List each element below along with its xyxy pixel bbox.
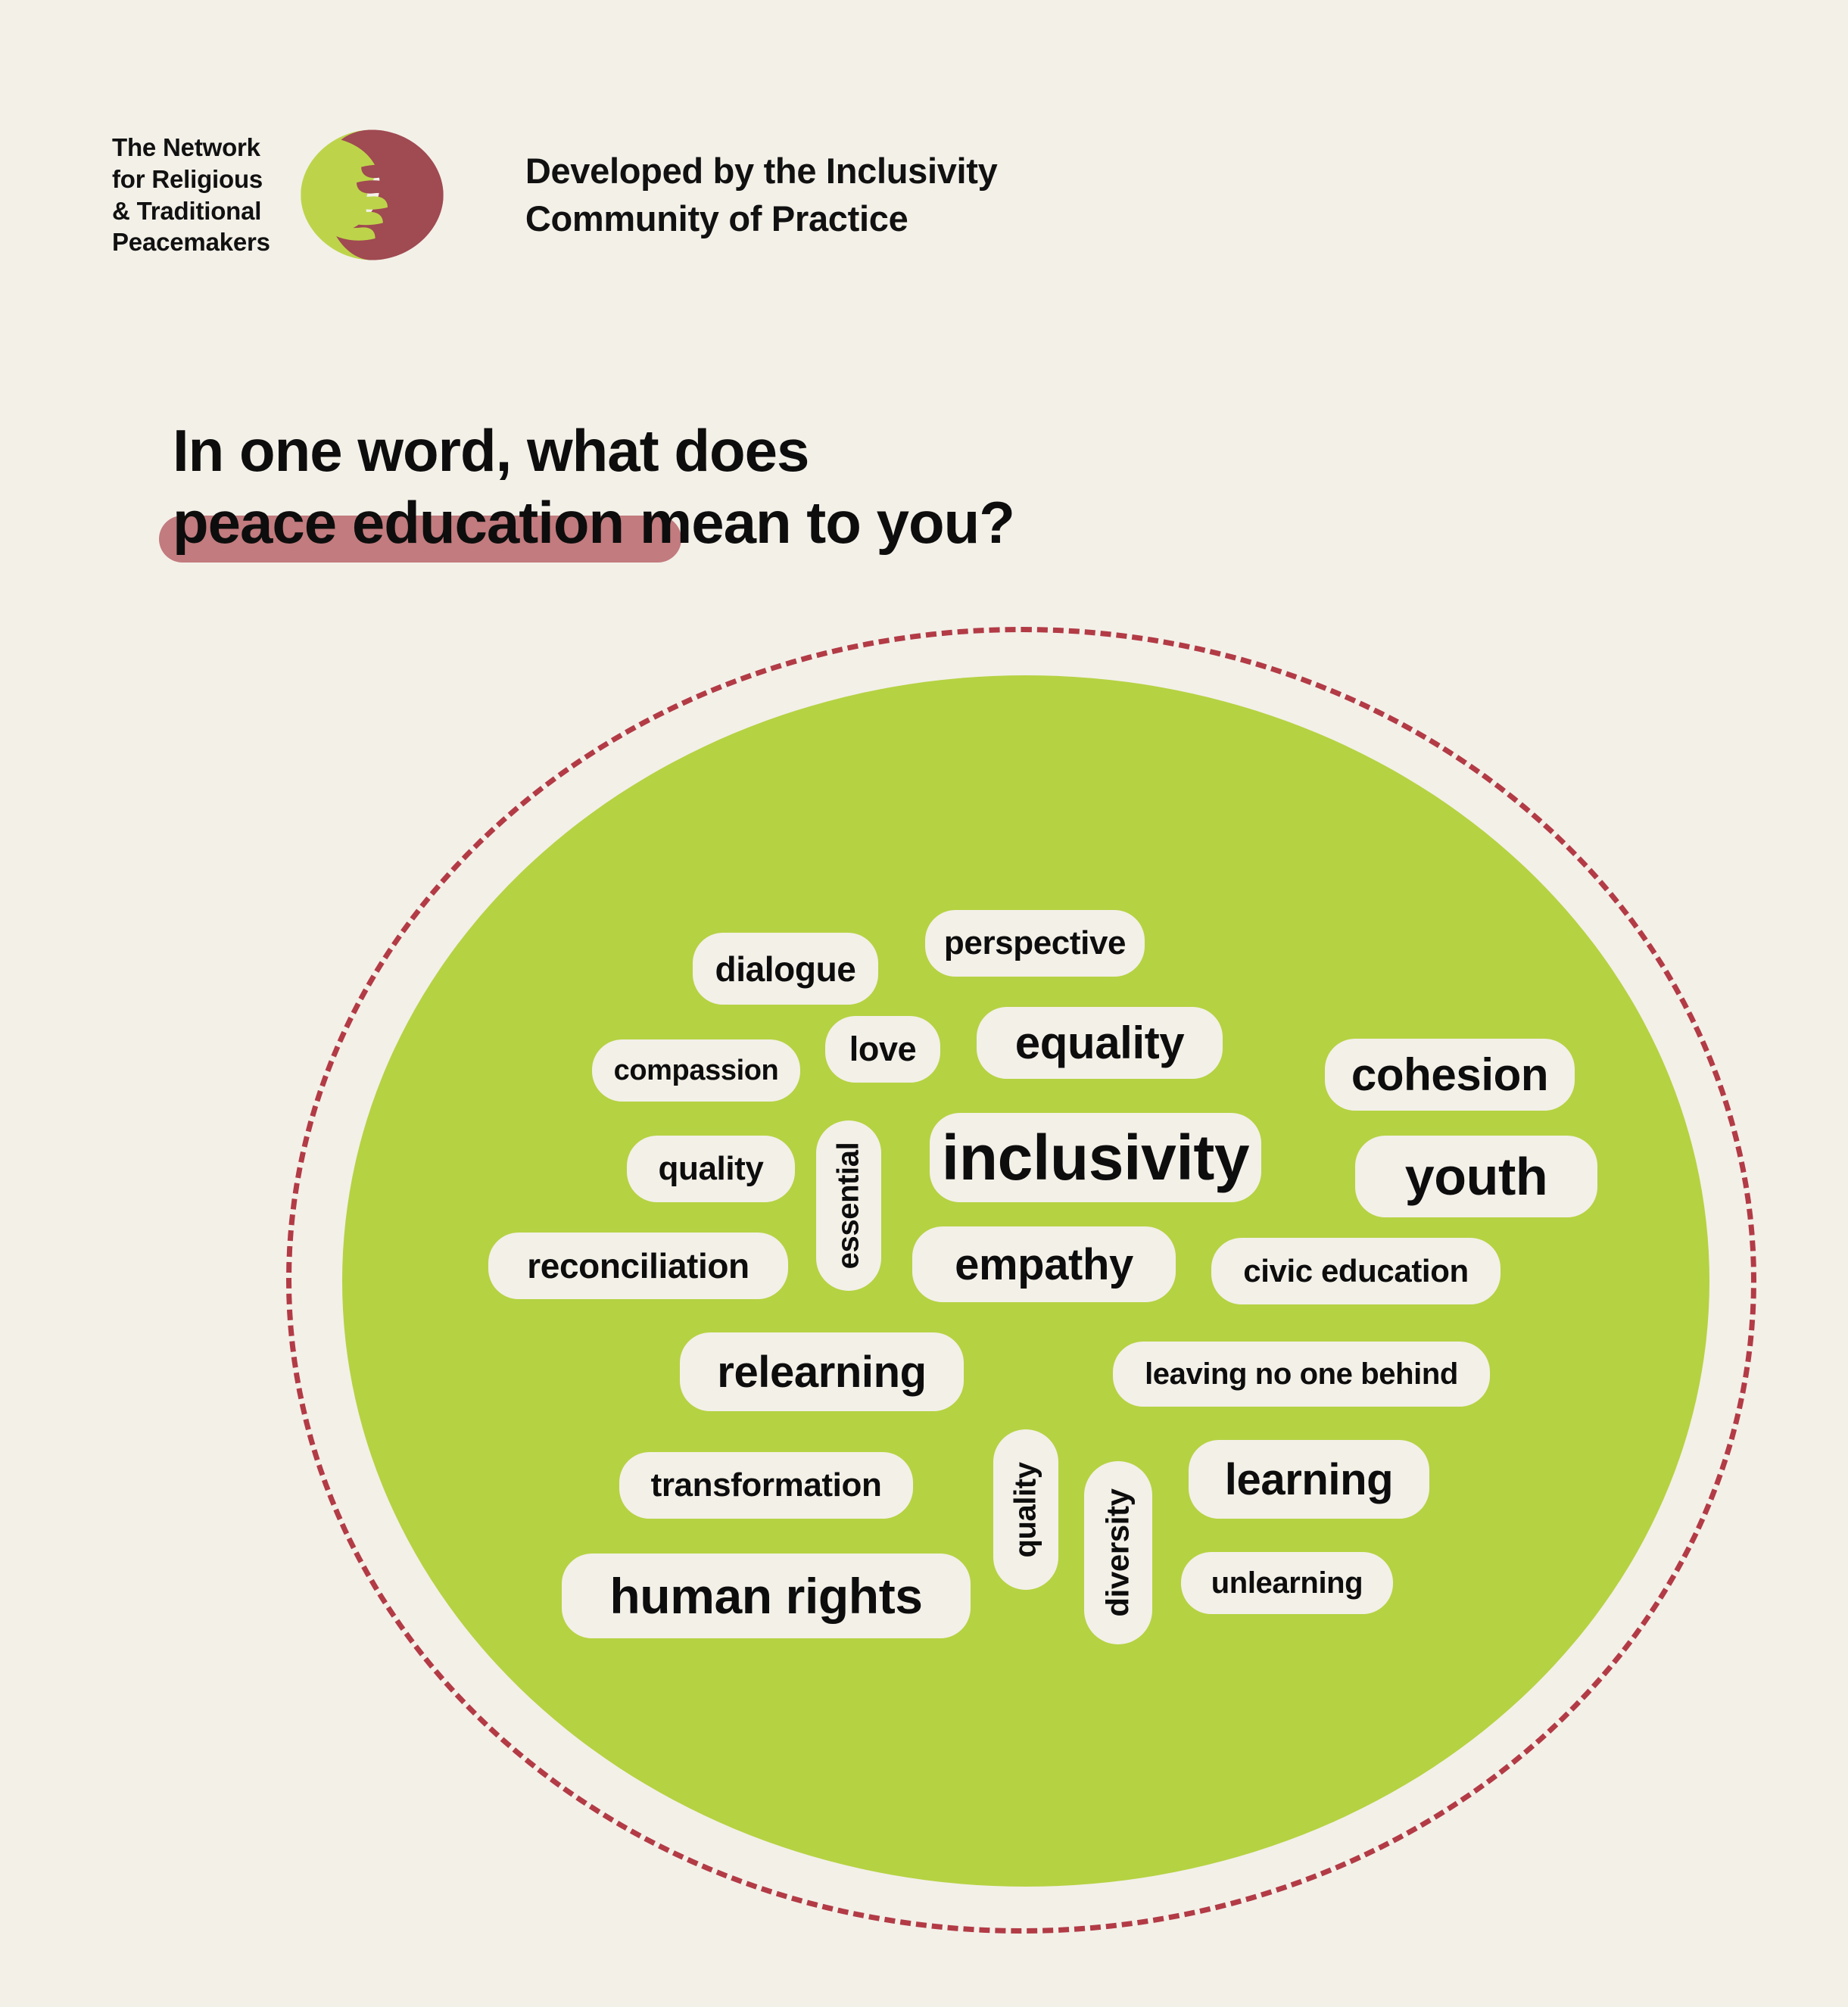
word-pill: essential	[816, 1120, 881, 1291]
word-pill: cohesion	[1325, 1039, 1575, 1111]
word-pill: relearning	[680, 1332, 964, 1411]
poster-canvas: The Network for Religious & Traditional …	[0, 0, 1848, 2007]
word-pill: unlearning	[1181, 1552, 1393, 1614]
word-pill-label: equality	[1015, 1017, 1185, 1069]
word-pill-label: civic education	[1243, 1253, 1468, 1289]
word-pill-label: inclusivity	[942, 1121, 1249, 1195]
word-pill-label: human rights	[609, 1567, 922, 1625]
word-pill-label: diversity	[1100, 1488, 1136, 1616]
word-pill-label: youth	[1405, 1146, 1548, 1207]
word-pill-label: empathy	[955, 1239, 1133, 1290]
word-pill-label: relearning	[717, 1347, 926, 1398]
word-pill-label: cohesion	[1351, 1049, 1548, 1101]
word-pill-label: love	[849, 1030, 916, 1069]
word-pill: empathy	[912, 1226, 1176, 1302]
word-pill: leaving no one behind	[1113, 1342, 1490, 1407]
word-pill-label: transformation	[651, 1466, 882, 1504]
word-pill: learning	[1189, 1440, 1429, 1519]
headline-highlight-text: peace education	[173, 489, 624, 556]
word-cloud: dialogueperspectivecompassionloveequalit…	[0, 0, 1848, 2007]
word-pill: transformation	[619, 1452, 913, 1519]
word-pill: quality	[993, 1429, 1058, 1590]
word-pill: love	[825, 1016, 940, 1083]
word-pill-label: reconciliation	[527, 1245, 749, 1286]
word-pill: perspective	[925, 910, 1145, 977]
word-pill: equality	[977, 1007, 1223, 1079]
word-pill: youth	[1355, 1136, 1597, 1217]
word-pill-label: leaving no one behind	[1145, 1357, 1458, 1391]
word-pill-label: dialogue	[715, 949, 856, 989]
word-pill: quality	[627, 1136, 795, 1202]
word-pill: civic education	[1211, 1238, 1501, 1304]
word-pill-label: quality	[1009, 1462, 1043, 1557]
word-pill-label: learning	[1225, 1454, 1393, 1505]
word-pill-label: unlearning	[1211, 1566, 1363, 1600]
word-pill: human rights	[562, 1554, 971, 1638]
word-pill: inclusivity	[930, 1113, 1261, 1202]
word-pill-label: quality	[659, 1150, 764, 1188]
word-pill-label: perspective	[944, 924, 1126, 962]
word-pill: compassion	[592, 1039, 800, 1102]
headline-rest-text: mean to you?	[624, 489, 1014, 556]
word-pill: dialogue	[693, 933, 878, 1005]
word-pill: reconciliation	[488, 1233, 788, 1299]
word-pill-label: essential	[832, 1142, 866, 1270]
word-pill: diversity	[1084, 1461, 1152, 1644]
word-pill-label: compassion	[614, 1055, 779, 1087]
